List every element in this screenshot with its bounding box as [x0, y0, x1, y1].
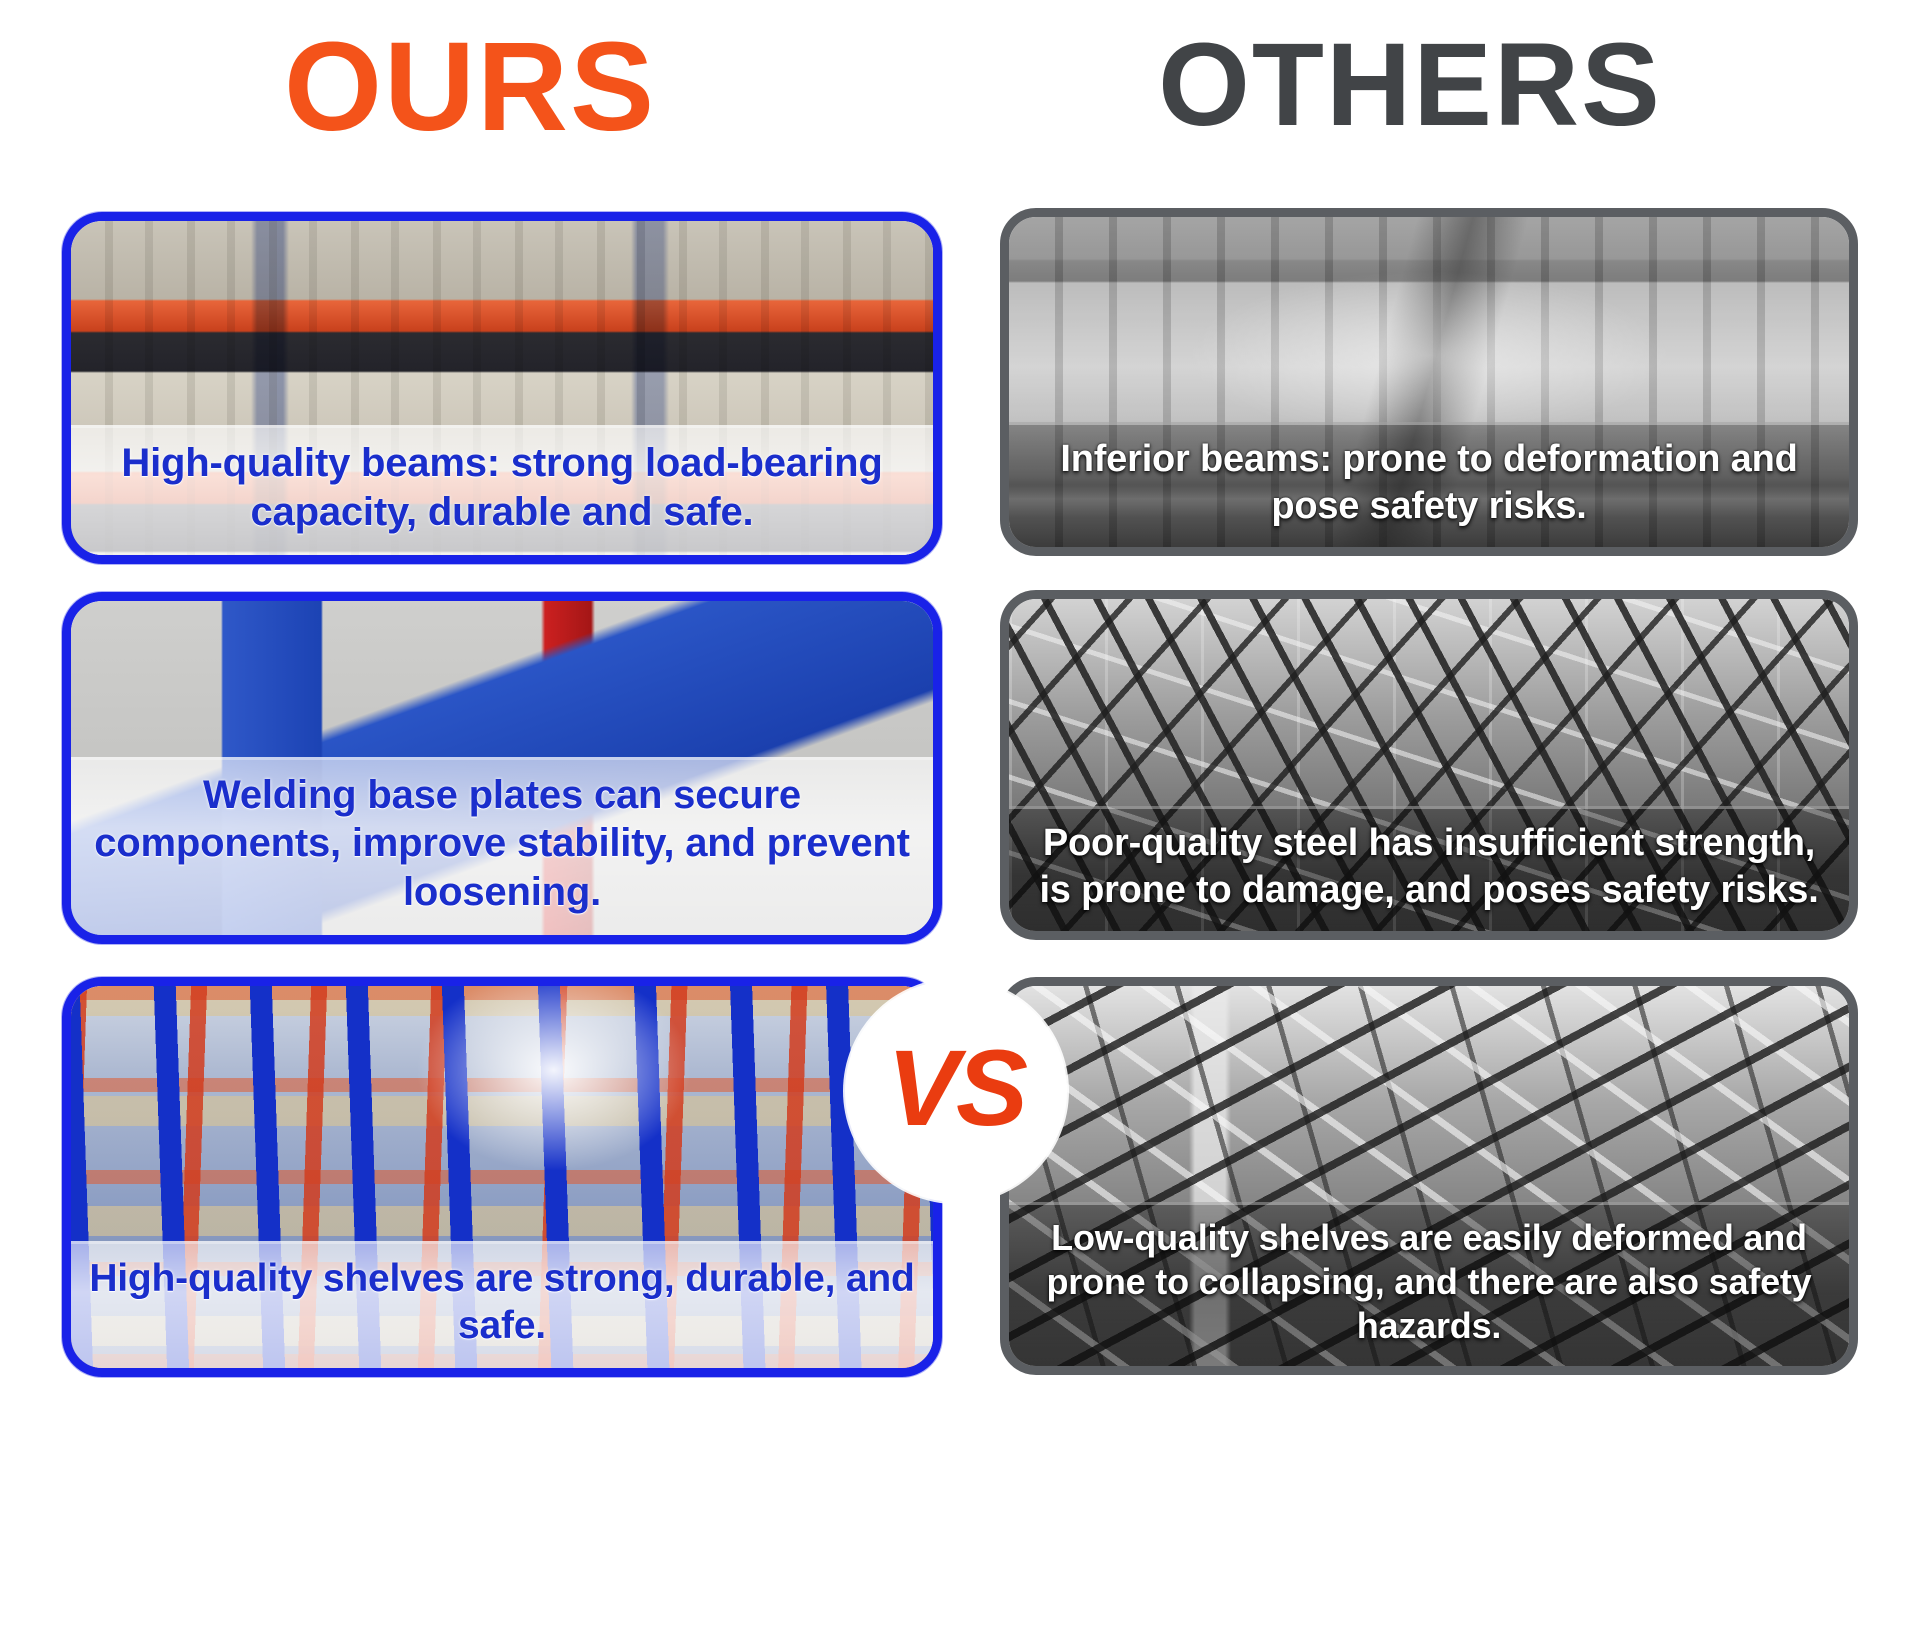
others-caption-row-3: Low-quality shelves are easily deformed …: [1009, 1202, 1849, 1366]
ours-card-row-3[interactable]: High-quality shelves are strong, durable…: [62, 977, 942, 1377]
others-caption-row-1: Inferior beams: prone to deformation and…: [1009, 422, 1849, 547]
ours-card-row-1[interactable]: High-quality beams: strong load-bearing …: [62, 212, 942, 564]
ours-caption-row-2: Welding base plates can secure component…: [71, 757, 933, 935]
page-title-others: OTHERS: [960, 26, 1860, 144]
others-card-row-1[interactable]: Inferior beams: prone to deformation and…: [1000, 208, 1858, 556]
page-title-ours: OURS: [0, 24, 940, 150]
others-card-row-3[interactable]: Low-quality shelves are easily deformed …: [1000, 977, 1858, 1375]
comparison-grid: High-quality beams: strong load-bearing …: [0, 180, 1920, 1646]
ours-card-row-2[interactable]: Welding base plates can secure component…: [62, 592, 942, 944]
ours-caption-row-3: High-quality shelves are strong, durable…: [71, 1241, 933, 1368]
vs-label: VS: [887, 1025, 1025, 1150]
others-card-row-2[interactable]: Poor-quality steel has insufficient stre…: [1000, 590, 1858, 940]
vs-badge: VS: [845, 980, 1067, 1202]
comparison-header: OURS OTHERS: [0, 0, 1920, 180]
ours-caption-row-1: High-quality beams: strong load-bearing …: [71, 425, 933, 555]
others-caption-row-2: Poor-quality steel has insufficient stre…: [1009, 806, 1849, 931]
